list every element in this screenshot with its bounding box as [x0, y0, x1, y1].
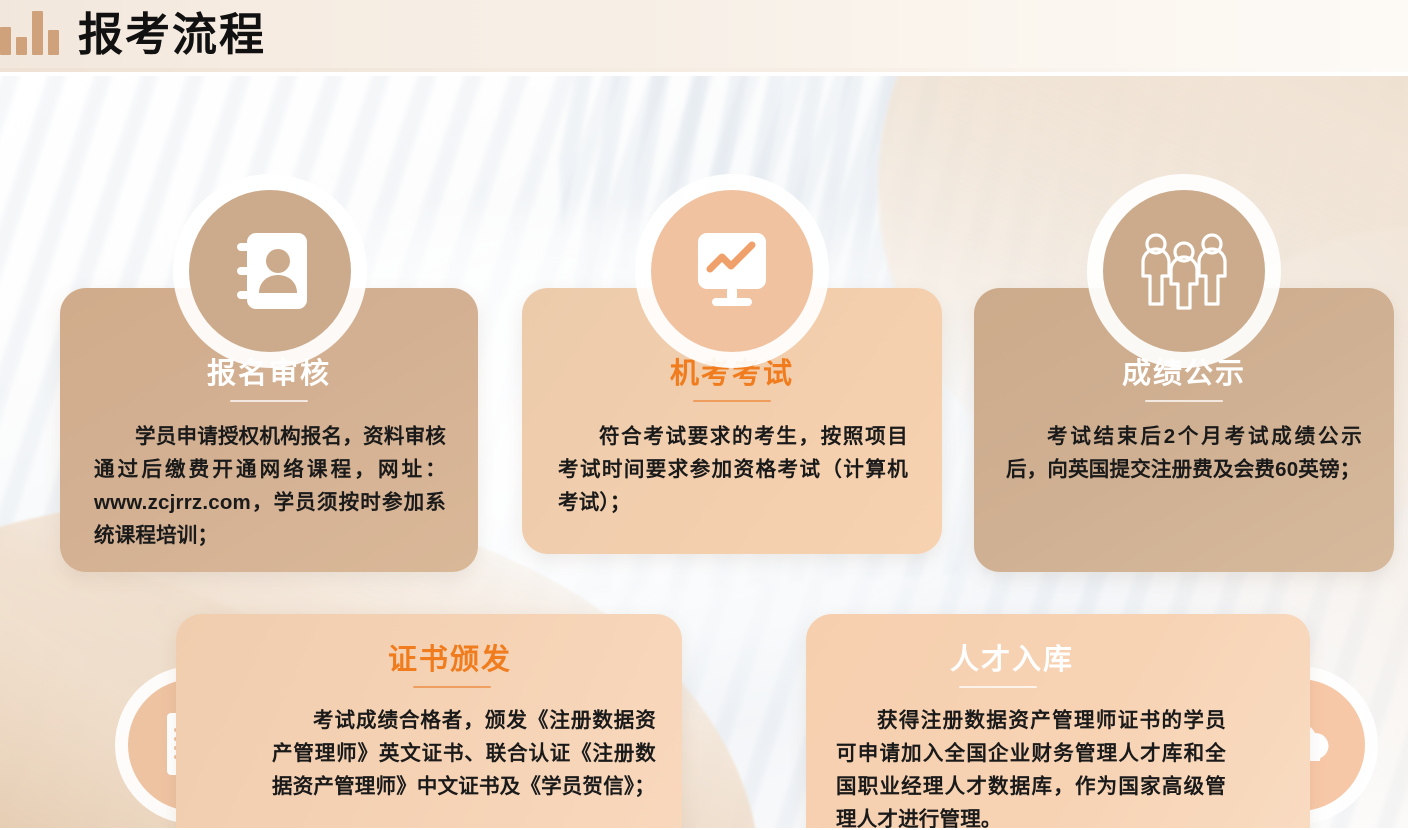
- step-card-5-body: 人才入库 获得注册数据资产管理师证书的学员可申请加入全国企业财务管理人才库和全国…: [806, 614, 1310, 828]
- step-card-3-title: 成绩公示: [974, 350, 1394, 392]
- step-card-1-rule: [230, 400, 308, 402]
- step-card-4-title: 证书颁发: [218, 636, 682, 678]
- step-card-5-title: 人才入库: [760, 636, 1264, 678]
- step-card-2-description: 符合考试要求的考生，按照项目考试时间要求参加资格考试（计算机考试）；: [558, 420, 908, 519]
- step-card-1-description: 学员申请授权机构报名，资料审核通过后缴费开通网络课程，网址：www.zcjrrz…: [94, 420, 446, 552]
- step-card-4-description: 考试成绩合格者，颁发《注册数据资产管理师》英文证书、联合认证《注册数据资产管理师…: [272, 704, 656, 803]
- contact-book-icon: [189, 190, 351, 352]
- monitor-chart-icon: [651, 190, 813, 352]
- bar-chart-icon: [0, 9, 58, 55]
- step-card-5-rule: [959, 686, 1037, 688]
- step-card-2-rule: [693, 400, 771, 402]
- people-group-icon: [1103, 190, 1265, 352]
- step-card-1-title: 报名审核: [60, 350, 478, 392]
- step-card-4[interactable]: 证书颁发 考试成绩合格者，颁发《注册数据资产管理师》英文证书、联合认证《注册数据…: [176, 614, 682, 828]
- content-stage: 报名审核 学员申请授权机构报名，资料审核通过后缴费开通网络课程，网址：www.z…: [0, 76, 1408, 828]
- step-card-2-title: 机考考试: [522, 350, 942, 392]
- step-card-4-body: 证书颁发 考试成绩合格者，颁发《注册数据资产管理师》英文证书、联合认证《注册数据…: [176, 614, 682, 828]
- page-root: 报考流程 报名审核 学员申请授权机构报名，资料审核通过后缴费开通网络课程，网址：…: [0, 0, 1408, 830]
- page-title: 报考流程: [78, 2, 266, 68]
- step-card-3-description: 考试结束后2个月考试成绩公示后，向英国提交注册费及会费60英镑；: [1006, 420, 1362, 486]
- step-card-5-description: 获得注册数据资产管理师证书的学员可申请加入全国企业财务管理人才库和全国职业经理人…: [836, 704, 1226, 828]
- page-header: 报考流程: [0, 0, 1408, 72]
- step-card-3-rule: [1145, 400, 1223, 402]
- step-card-5[interactable]: 人才入库 获得注册数据资产管理师证书的学员可申请加入全国企业财务管理人才库和全国…: [806, 614, 1310, 828]
- step-card-4-rule: [413, 686, 491, 688]
